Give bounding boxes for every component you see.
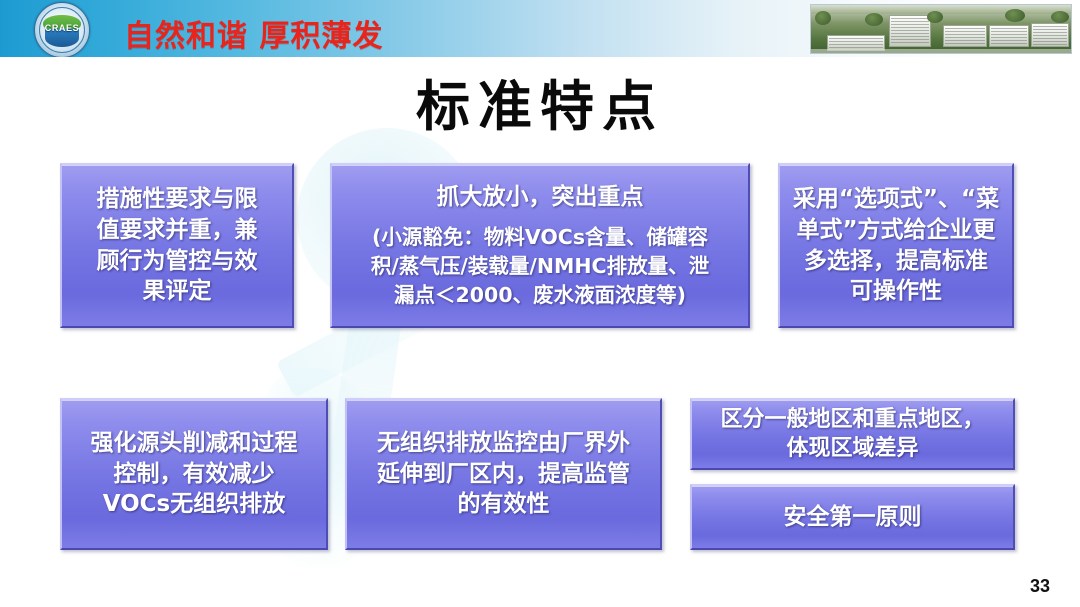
photo-tree-a	[815, 11, 831, 25]
box-key-points: 抓大放小，突出重点 (小源豁免：物料VOCs含量、储罐容 积/蒸气压/装载量/N…	[330, 163, 750, 328]
photo-building-right	[1031, 23, 1069, 47]
box-line: 可操作性	[850, 276, 942, 307]
slide: CRAES 自然和谐 厚积薄发 标准特点	[0, 0, 1080, 607]
box-line: 值要求并重，兼	[97, 215, 258, 246]
page-number: 33	[1030, 576, 1050, 597]
box-measure-limit: 措施性要求与限 值要求并重，兼 顾行为管控与效 果评定	[60, 163, 294, 328]
box-line: VOCs无组织排放	[103, 489, 286, 520]
header-slogan: 自然和谐 厚积薄发	[124, 11, 383, 55]
photo-building-mid-b	[989, 25, 1029, 47]
logo-wordmark: CRAES	[35, 23, 89, 33]
page-title: 标准特点	[0, 62, 1080, 141]
photo-tree-d	[1005, 9, 1025, 22]
box-regional-difference: 区分一般地区和重点地区， 体现区域差异	[690, 398, 1015, 470]
box-line: (小源豁免：物料VOCs含量、储罐容	[372, 223, 708, 252]
box-monitoring-scope: 无组织排放监控由厂界外 延伸到厂区内，提高监管 的有效性	[345, 398, 662, 550]
box-line: 延伸到厂区内，提高监管	[377, 459, 630, 490]
box-line: 漏点＜2000、废水液面浓度等)	[394, 281, 686, 310]
photo-building-mid-a	[943, 25, 987, 47]
box-line: 体现区域差异	[786, 434, 918, 463]
box-heading: 抓大放小，突出重点	[437, 182, 644, 213]
box-line: 无组织排放监控由厂界外	[377, 428, 630, 459]
photo-tree-e	[1051, 11, 1069, 23]
box-line: 控制，有效减少	[114, 459, 275, 490]
box-line: 采用“选项式”、“菜	[793, 184, 999, 215]
photo-building-tall	[889, 15, 931, 47]
box-line: 果评定	[143, 276, 212, 307]
photo-road	[811, 49, 1071, 53]
box-optional-menu: 采用“选项式”、“菜 单式”方式给企业更 多选择，提高标准 可操作性	[778, 163, 1014, 328]
craes-logo-icon: CRAES	[34, 2, 90, 57]
box-line: 区分一般地区和重点地区，	[720, 405, 984, 434]
box-line: 安全第一原则	[784, 502, 922, 533]
photo-tree-b	[865, 13, 883, 26]
box-source-reduction: 强化源头削减和过程 控制，有效减少 VOCs无组织排放	[60, 398, 328, 550]
photo-tree-c	[927, 11, 943, 23]
box-line: 单式”方式给企业更	[796, 215, 995, 246]
box-line: 的有效性	[458, 489, 550, 520]
box-line: 积/蒸气压/装载量/NMHC排放量、泄	[371, 252, 709, 281]
campus-aerial-photo	[810, 4, 1072, 54]
box-safety-first: 安全第一原则	[690, 484, 1015, 550]
slide-header: CRAES 自然和谐 厚积薄发	[0, 0, 1080, 57]
box-line: 强化源头削减和过程	[91, 428, 298, 459]
box-line: 措施性要求与限	[97, 184, 258, 215]
box-line: 顾行为管控与效	[97, 246, 258, 277]
box-line: 多选择，提高标准	[804, 246, 988, 277]
